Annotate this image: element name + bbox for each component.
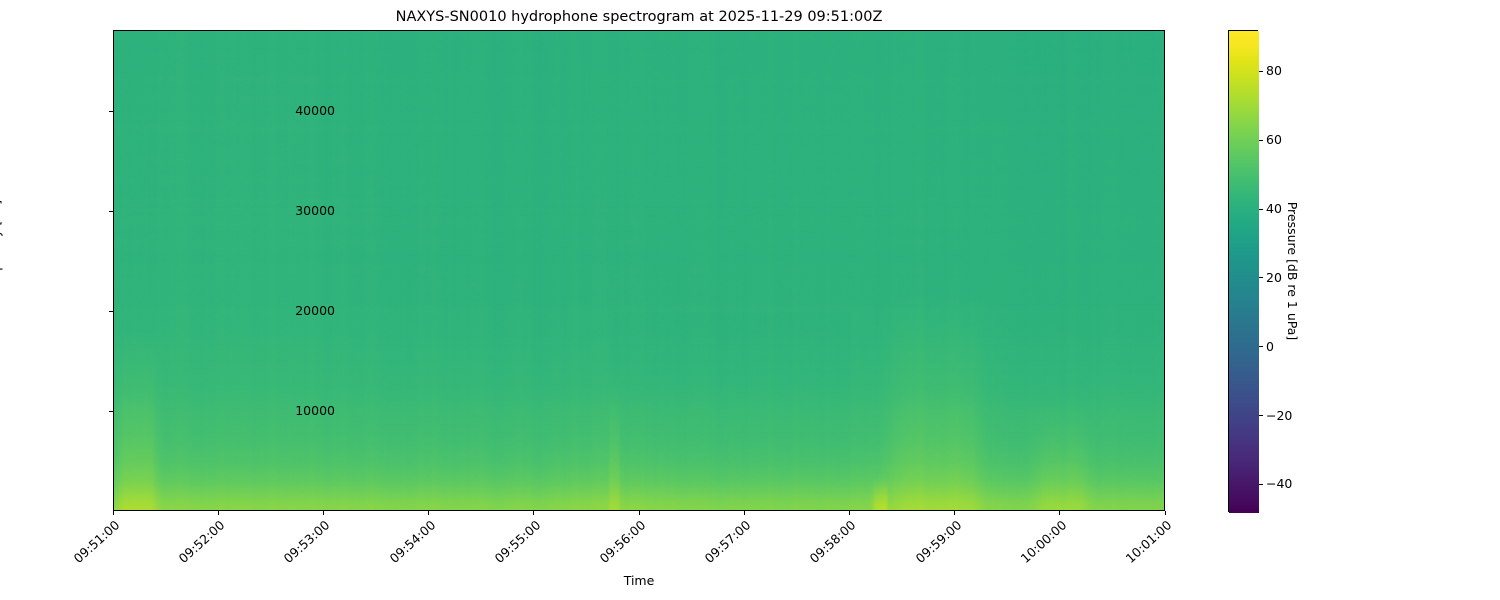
y-axis-label: Frequency [Hz] [0, 200, 3, 294]
x-tick-mark [218, 511, 219, 515]
x-tick-label: 09:59:00 [903, 518, 964, 575]
x-tick-label: 09:55:00 [482, 518, 543, 575]
x-axis-label: Time [113, 573, 1165, 588]
colorbar-tick-mark [1259, 277, 1263, 278]
y-tick-label: 20000 [275, 305, 335, 317]
spectrogram-figure: NAXYS-SN0010 hydrophone spectrogram at 2… [0, 0, 1500, 600]
x-tick-mark [744, 511, 745, 515]
x-tick-mark [113, 511, 114, 515]
y-tick-mark [109, 211, 113, 212]
colorbar-gradient [1229, 31, 1259, 513]
colorbar-tick-label: −20 [1266, 410, 1292, 422]
y-tick-label: 10000 [275, 405, 335, 417]
colorbar-tick-mark [1259, 140, 1263, 141]
x-tick-mark [954, 511, 955, 515]
y-tick-mark [109, 411, 113, 412]
x-tick-mark [849, 511, 850, 515]
colorbar-tick-label: 40 [1266, 203, 1282, 215]
colorbar-tick-label: 80 [1266, 65, 1282, 77]
x-tick-label: 09:54:00 [377, 518, 438, 575]
colorbar-tick-mark [1259, 346, 1263, 347]
colorbar-tick-mark [1259, 209, 1263, 210]
x-tick-mark [1059, 511, 1060, 515]
y-tick-mark [109, 111, 113, 112]
colorbar-tick-label: 0 [1266, 341, 1274, 353]
x-tick-label: 09:53:00 [271, 518, 332, 575]
colorbar-tick-label: 60 [1266, 134, 1282, 146]
x-tick-label: 09:52:00 [166, 518, 227, 575]
x-tick-mark [533, 511, 534, 515]
y-tick-label: 30000 [275, 205, 335, 217]
x-tick-mark [639, 511, 640, 515]
colorbar-tick-mark [1259, 415, 1263, 416]
x-tick-label: 10:00:00 [1008, 518, 1069, 575]
x-tick-mark [1165, 511, 1166, 515]
colorbar-label: Pressure [dB re 1 uPa] [1285, 202, 1300, 341]
spectrogram-plot-area[interactable] [113, 30, 1165, 511]
colorbar-tick-mark [1259, 71, 1263, 72]
y-tick-label: 40000 [275, 105, 335, 117]
spectrogram-image [114, 31, 1165, 511]
x-tick-mark [323, 511, 324, 515]
y-tick-mark [109, 311, 113, 312]
x-tick-label: 10:01:00 [1113, 518, 1174, 575]
x-tick-label: 09:51:00 [61, 518, 122, 575]
x-tick-label: 09:56:00 [587, 518, 648, 575]
page-title: NAXYS-SN0010 hydrophone spectrogram at 2… [113, 8, 1165, 26]
x-tick-label: 09:57:00 [692, 518, 753, 575]
colorbar-tick-label: −40 [1266, 478, 1292, 490]
colorbar[interactable] [1228, 30, 1258, 512]
colorbar-tick-mark [1259, 484, 1263, 485]
x-tick-label: 09:58:00 [797, 518, 858, 575]
colorbar-tick-label: 20 [1266, 272, 1282, 284]
x-tick-mark [428, 511, 429, 515]
